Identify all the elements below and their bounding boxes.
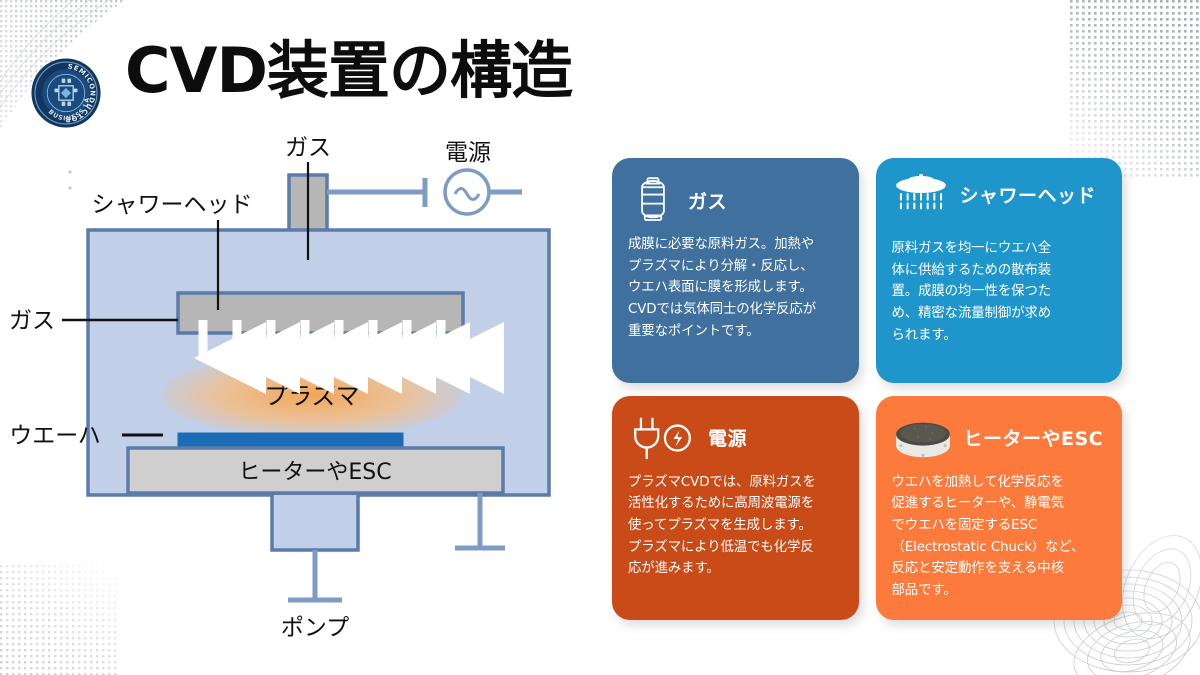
- card-showerhead-body: 原料ガスを均一にウエハ全 体に供給するための散布装 置。成膜の均一性を保つた め…: [892, 238, 1107, 347]
- card-power-header: 電源: [628, 410, 843, 466]
- card-power-body: プラズマCVDでは、原料ガスを 活性化するために高周波電源を 使ってプラズマを生…: [628, 472, 843, 581]
- card-heater-esc-line-6: 部品です。: [892, 580, 1107, 602]
- card-power-line-2: 活性化するために高周波電源を: [628, 493, 843, 515]
- card-gas-header: ガス: [628, 172, 843, 228]
- card-heater-esc-header: ヒーターやESC: [892, 410, 1107, 466]
- card-gas-line-3: ウエハ表面に膜を形成します。: [628, 277, 843, 299]
- card-gas-body: 成膜に必要な原料ガス。加熱や プラズマにより分解・反応し、 ウエハ表面に膜を形成…: [628, 234, 843, 343]
- card-showerhead-line-1: 原料ガスを均一にウエハ全: [892, 238, 1107, 260]
- heater-esc-pedestal: ヒーターやESC: [128, 448, 503, 493]
- card-heater-esc-body: ウエハを加熱して化学反応を 促進するヒーターや、静電気 でウエハを固定するESC…: [892, 472, 1107, 602]
- slide-root: SEMICONDUCTOR BUSINESS LAB CVD装置の構造: [0, 0, 1200, 675]
- card-gas-line-5: 重要なポイントです。: [628, 321, 843, 343]
- label-power: 電源: [445, 140, 491, 166]
- card-showerhead-line-4: め、精密な流量制御が求め: [892, 303, 1107, 325]
- card-power[interactable]: 電源 プラズマCVDでは、原料ガスを 活性化するために高周波電源を 使ってプラズ…: [612, 396, 859, 621]
- cvd-chamber-diagram: プラズマ ヒーターやESC: [0, 130, 600, 675]
- label-heater-esc: ヒーターやESC: [238, 460, 391, 485]
- card-power-line-4: プラズマにより低温でも化学反: [628, 537, 843, 559]
- card-heater-esc[interactable]: ヒーターやESC ウエハを加熱して化学反応を 促進するヒーターや、静電気 でウエ…: [876, 396, 1123, 621]
- pedestal-ground: [455, 493, 505, 548]
- label-showerhead: シャワーヘッド: [92, 192, 253, 218]
- card-power-line-3: 使ってプラズマを生成します。: [628, 515, 843, 537]
- card-showerhead-line-2: 体に供給するための散布装: [892, 260, 1107, 282]
- card-power-line-5: 応が進みます。: [628, 558, 843, 580]
- card-showerhead-line-3: 置。成膜の均一性を保つた: [892, 281, 1107, 303]
- decorative-dots-diagram: [68, 170, 71, 189]
- esc-chuck-disk-icon: [892, 413, 954, 463]
- card-showerhead-header: シャワーヘッド: [892, 172, 1107, 216]
- label-gas-top: ガス: [285, 135, 331, 161]
- card-heater-esc-line-4: （Electrostatic Chuck）など、: [892, 537, 1107, 559]
- label-wafer: ウエーハ: [9, 423, 101, 449]
- card-heater-esc-line-3: でウエハを固定するESC: [892, 515, 1107, 537]
- page-title: CVD装置の構造: [125, 38, 572, 103]
- card-gas-line-1: 成膜に必要な原料ガス。加熱や: [628, 234, 843, 256]
- power-plug-bolt-icon: [628, 412, 698, 464]
- gas-cylinder-icon: [628, 174, 678, 226]
- card-gas-line-2: プラズマにより分解・反応し、: [628, 256, 843, 278]
- card-heater-esc-line-1: ウエハを加熱して化学反応を: [892, 472, 1107, 494]
- card-showerhead[interactable]: シャワーヘッド 原料ガスを均一にウエハ全 体に供給するための散布装 置。成膜の均…: [876, 158, 1123, 383]
- decorative-dot-grid-top-right: [1070, 0, 1200, 180]
- label-plasma: プラズマ: [264, 382, 360, 410]
- card-heater-esc-line-5: 反応と安定動作を支える中核: [892, 558, 1107, 580]
- rf-power-source: [327, 170, 522, 214]
- showerhead-plate: [178, 293, 463, 333]
- semiconductor-business-lab-logo: SEMICONDUCTOR BUSINESS LAB: [30, 57, 102, 129]
- info-card-grid: ガス 成膜に必要な原料ガス。加熱や プラズマにより分解・反応し、 ウエハ表面に膜…: [612, 158, 1122, 620]
- label-gas-left: ガス: [9, 308, 55, 334]
- card-heater-esc-title: ヒーターやESC: [964, 424, 1104, 451]
- card-power-line-1: プラズマCVDでは、原料ガスを: [628, 472, 843, 494]
- pump-line: [288, 550, 342, 600]
- card-showerhead-line-5: られます。: [892, 325, 1107, 347]
- card-gas-line-4: CVDでは気体同士の化学反応が: [628, 299, 843, 321]
- label-pump: ポンプ: [281, 615, 349, 641]
- shower-head-icon: [892, 172, 950, 216]
- card-showerhead-title: シャワーヘッド: [960, 181, 1097, 208]
- card-power-title: 電源: [708, 424, 747, 451]
- card-heater-esc-line-2: 促進するヒーターや、静電気: [892, 493, 1107, 515]
- card-gas[interactable]: ガス 成膜に必要な原料ガス。加熱や プラズマにより分解・反応し、 ウエハ表面に膜…: [612, 158, 859, 383]
- card-gas-title: ガス: [688, 187, 727, 214]
